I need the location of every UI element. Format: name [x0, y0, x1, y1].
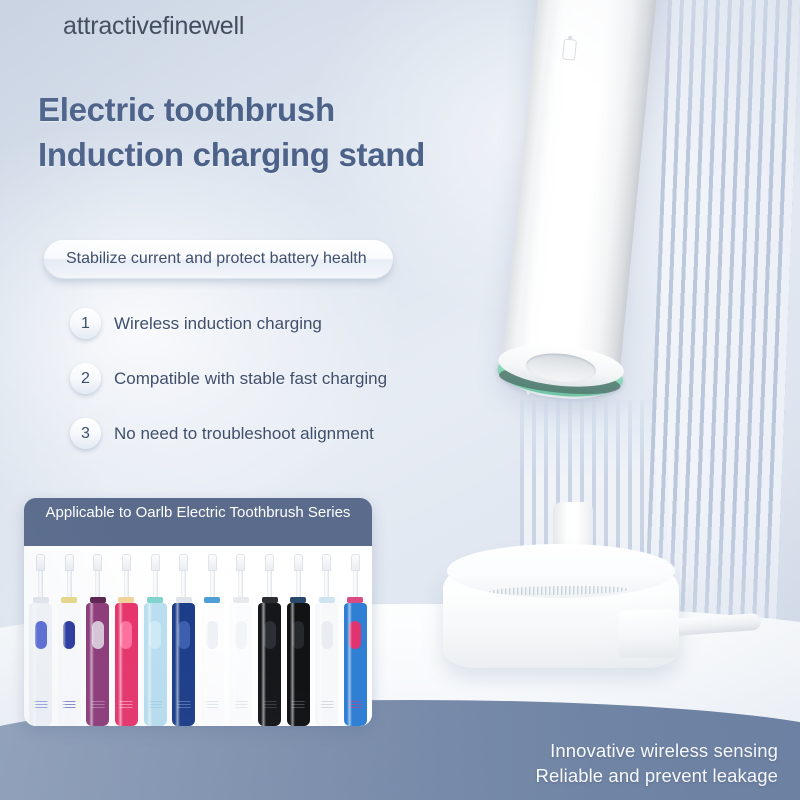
- charging-base: [443, 500, 707, 690]
- brush-logo: [177, 701, 190, 710]
- brush-head: [65, 554, 74, 571]
- gallery-white-classic-brush: [200, 554, 225, 726]
- brush-power-button: [35, 621, 47, 649]
- brush-neck: [95, 571, 100, 597]
- brush-head: [351, 554, 360, 571]
- brush-neck: [210, 571, 215, 597]
- brush-power-button: [321, 621, 333, 649]
- product-poster: Innovative wireless sensing Reliable and…: [0, 0, 800, 800]
- brush-neck: [296, 571, 301, 597]
- gallery-white-blue-brush: [28, 554, 53, 726]
- brush-power-button: [92, 621, 104, 649]
- toothbrush-handle-body: [499, 0, 659, 403]
- brush-head: [93, 554, 102, 571]
- brush-body: [287, 603, 310, 726]
- brush-logo: [34, 701, 47, 710]
- brush-power-button: [206, 621, 218, 649]
- brush-head: [236, 554, 245, 571]
- brush-logo: [234, 701, 247, 710]
- brush-body: [29, 603, 52, 726]
- brush-logo: [320, 701, 333, 710]
- brush-logo: [120, 701, 133, 710]
- feature-label-2: Compatible with stable fast charging: [114, 369, 387, 389]
- brush-body: [172, 603, 195, 726]
- gallery-pink-brush: [114, 554, 139, 726]
- brush-body: [229, 603, 252, 726]
- gallery-white-grey-brush: [314, 554, 339, 726]
- gallery-black-io-brush: [286, 554, 311, 726]
- footer-line-2: Reliable and prevent leakage: [358, 763, 778, 788]
- gallery-white-navy-brush: [57, 554, 82, 726]
- brush-body: [201, 603, 224, 726]
- brush-head: [208, 554, 217, 571]
- gallery-navy-blue-brush: [171, 554, 196, 726]
- brush-body: [58, 603, 81, 726]
- brush-neck: [267, 571, 272, 597]
- brush-logo: [149, 701, 162, 710]
- brush-neck: [38, 571, 43, 597]
- brush-power-button: [120, 621, 132, 649]
- page-title: Electric toothbrush Induction charging s…: [38, 87, 425, 177]
- brush-neck: [124, 571, 129, 597]
- brush-logo: [206, 701, 219, 710]
- brush-power-button: [292, 621, 304, 649]
- brand-name: attractivefinewell: [63, 12, 244, 41]
- feature-number-1: 1: [70, 308, 101, 339]
- brush-neck: [353, 571, 358, 597]
- footer-line-1: Innovative wireless sensing: [358, 738, 778, 763]
- brush-logo: [263, 701, 276, 710]
- brush-body: [315, 603, 338, 726]
- battery-icon: [562, 39, 577, 61]
- feature-item-2: 2 Compatible with stable fast charging: [70, 363, 387, 394]
- brush-body: [344, 603, 367, 726]
- gallery-purple-brush: [85, 554, 110, 726]
- brush-head: [265, 554, 274, 571]
- gallery-white-smart-brush: [228, 554, 253, 726]
- headline-line-2: Induction charging stand: [38, 132, 425, 177]
- gallery-blue-pink-brush: [343, 554, 368, 726]
- brush-body: [144, 603, 167, 726]
- feature-label-3: No need to troubleshoot alignment: [114, 424, 374, 444]
- gallery-light-blue-brush: [143, 554, 168, 726]
- feature-number-3: 3: [70, 418, 101, 449]
- toothbrush-handle: [456, 0, 752, 452]
- brush-neck: [67, 571, 72, 597]
- compatibility-gallery: Applicable to Oarlb Electric Toothbrush …: [24, 498, 372, 726]
- brush-power-button: [63, 621, 75, 649]
- brush-head: [294, 554, 303, 571]
- brush-logo: [91, 701, 104, 710]
- brush-power-button: [235, 621, 247, 649]
- brush-neck: [238, 571, 243, 597]
- brush-head: [179, 554, 188, 571]
- brush-body: [86, 603, 109, 726]
- brush-neck: [324, 571, 329, 597]
- brush-power-button: [349, 621, 361, 649]
- badge-stabilize: Stabilize current and protect battery he…: [44, 240, 393, 279]
- brush-neck: [153, 571, 158, 597]
- gallery-brush-strip: [24, 546, 372, 726]
- gallery-title: Applicable to Oarlb Electric Toothbrush …: [24, 498, 372, 546]
- brush-logo: [63, 701, 76, 710]
- brush-head: [151, 554, 160, 571]
- brush-power-button: [149, 621, 161, 649]
- brush-head: [36, 554, 45, 571]
- brush-neck: [181, 571, 186, 597]
- brush-power-button: [264, 621, 276, 649]
- feature-number-2: 2: [70, 363, 101, 394]
- brush-power-button: [178, 621, 190, 649]
- brush-head: [322, 554, 331, 571]
- brush-logo: [292, 701, 305, 710]
- footer-text: Innovative wireless sensing Reliable and…: [358, 738, 778, 788]
- brush-head: [122, 554, 131, 571]
- headline-line-1: Electric toothbrush: [38, 87, 425, 132]
- brush-body: [115, 603, 138, 726]
- brush-logo: [349, 701, 362, 710]
- feature-item-1: 1 Wireless induction charging: [70, 308, 322, 339]
- brush-body: [258, 603, 281, 726]
- charging-base-plug: [619, 610, 679, 658]
- feature-item-3: 3 No need to troubleshoot alignment: [70, 418, 374, 449]
- gallery-black-brush: [257, 554, 282, 726]
- feature-label-1: Wireless induction charging: [114, 314, 322, 334]
